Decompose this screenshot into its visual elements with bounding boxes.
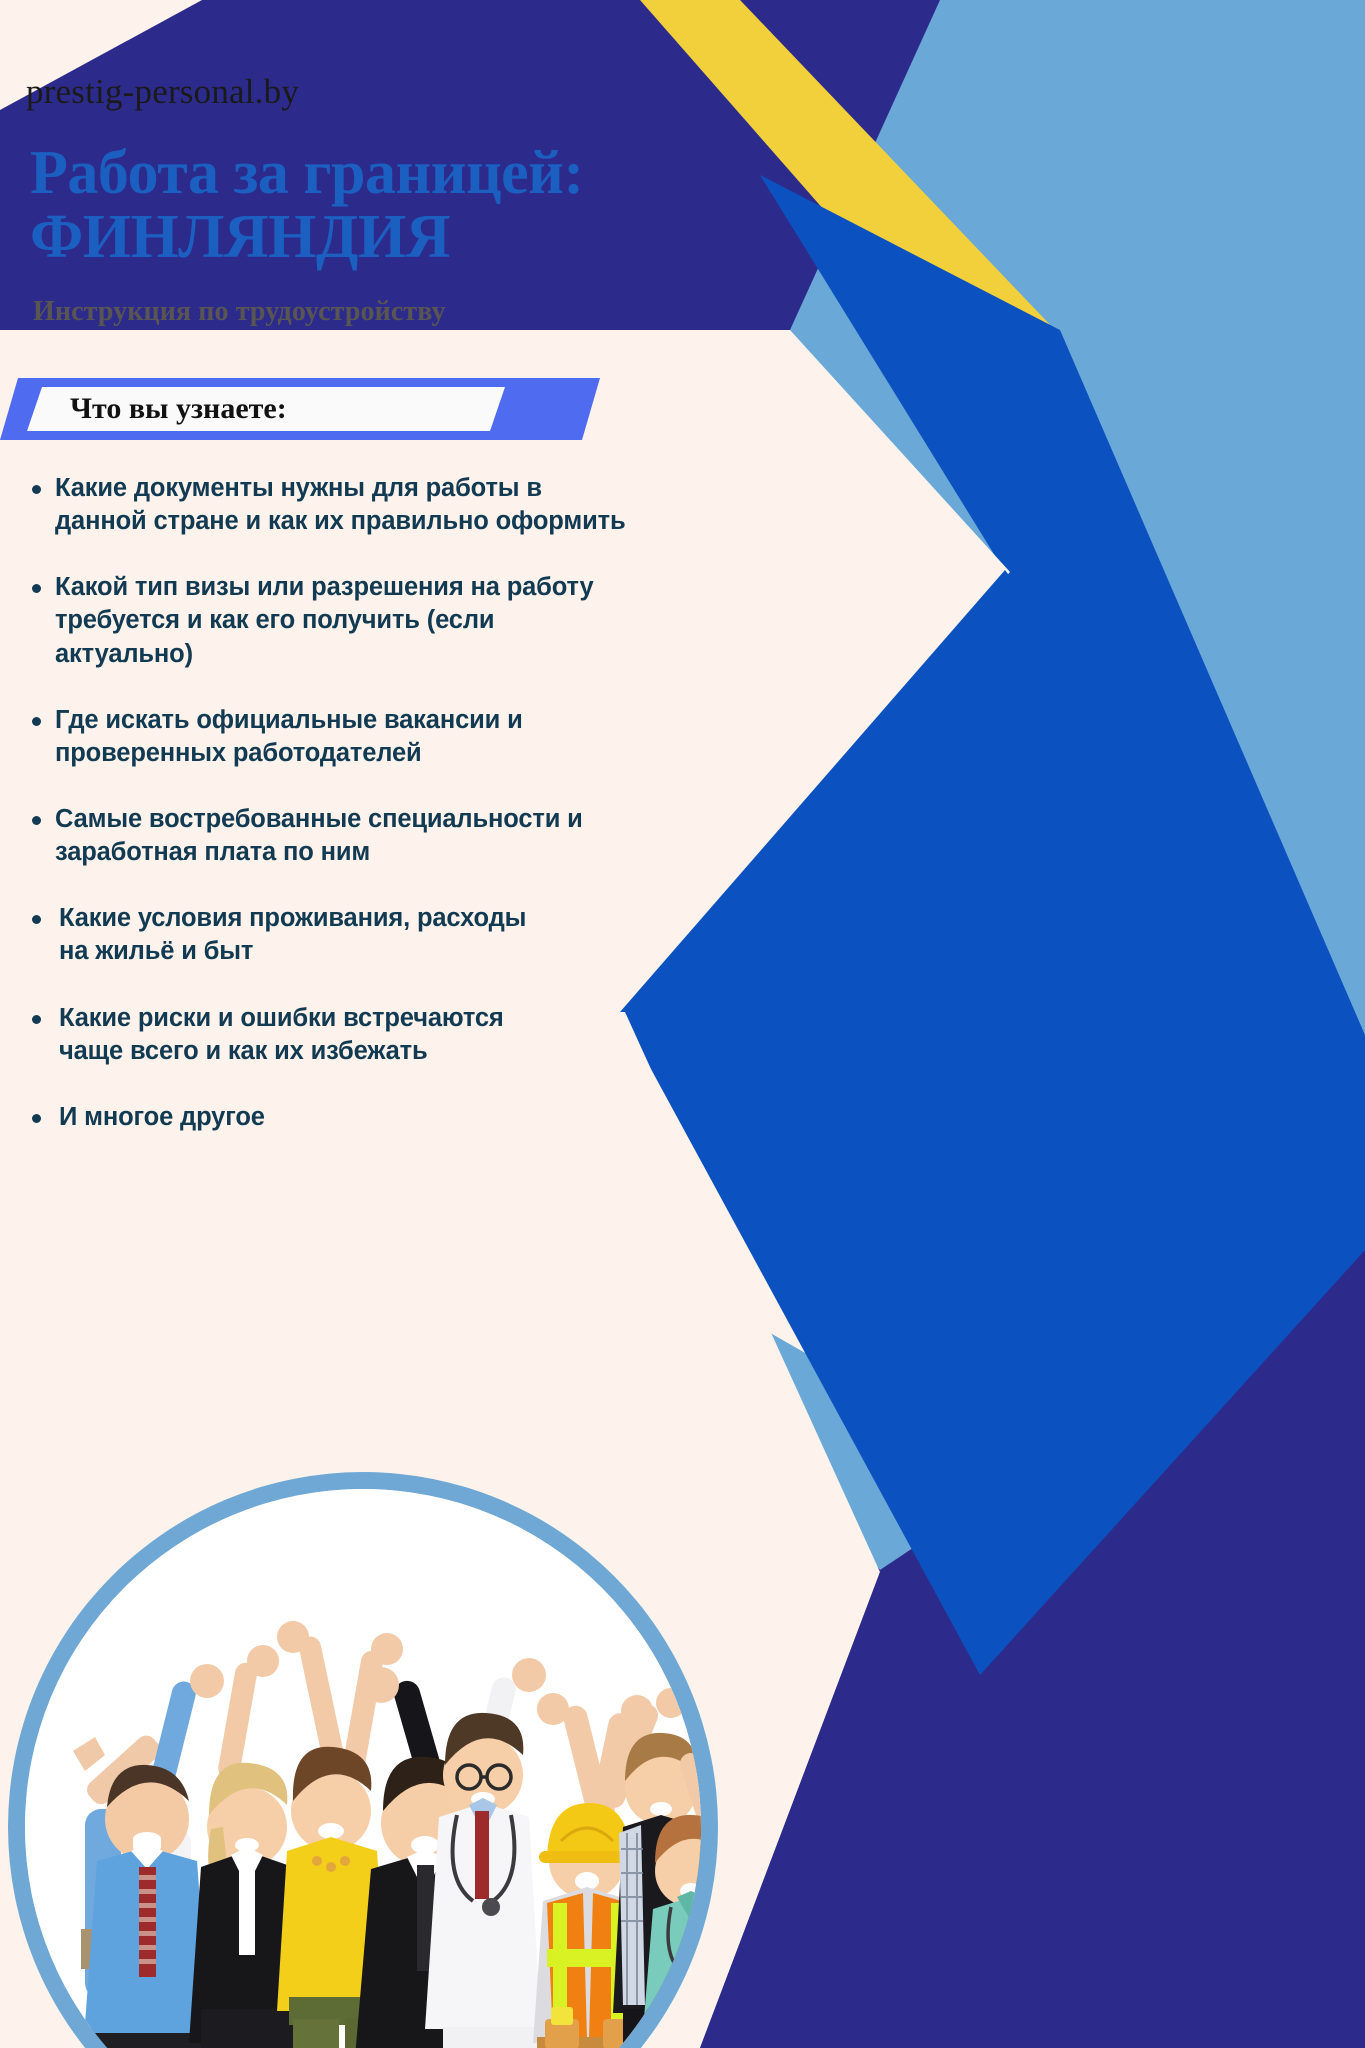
bullet-dot-icon <box>32 717 41 726</box>
list-item: Какие условия проживания, расходы на жил… <box>26 902 746 968</box>
tape-measure-icon <box>551 2007 573 2025</box>
bullet-dot-icon <box>32 816 41 825</box>
list-item-text: Какие условия проживания, расходы на жил… <box>59 902 526 968</box>
bullet-dot-icon <box>32 485 41 494</box>
bullet-dot-icon <box>32 1015 41 1024</box>
list-item-text: Какие документы нужны для работы в данно… <box>55 472 625 538</box>
list-item: Самые востребованные специальности и зар… <box>26 803 746 869</box>
section-banner-label: Что вы узнаете: <box>70 392 287 426</box>
bullet-dot-icon <box>32 584 41 593</box>
list-item-text: И многое другое <box>59 1101 265 1134</box>
list-item-text: Какой тип визы или разрешения на работу … <box>55 571 594 670</box>
page-title-line2: ФИНЛЯНДИЯ <box>30 206 790 270</box>
page-title: Работа за границей: ФИНЛЯНДИЯ <box>30 142 790 270</box>
site-brand: prestig-personal.by <box>26 72 299 112</box>
list-item-text: Какие риски и ошибки встречаются чаще вс… <box>59 1002 504 1068</box>
list-item: Где искать официальные вакансии и провер… <box>26 704 746 770</box>
team-photo <box>8 1472 718 2048</box>
list-item-text: Самые востребованные специальности и зар… <box>55 803 583 869</box>
page-title-line1: Работа за границей: <box>30 139 584 207</box>
benefits-list: Какие документы нужны для работы в данно… <box>26 472 746 1167</box>
page-subtitle: Инструкция по трудоустройству <box>33 296 446 328</box>
bullet-dot-icon <box>32 1114 41 1123</box>
list-item: Какой тип визы или разрешения на работу … <box>26 571 746 670</box>
list-item: И многое другое <box>26 1101 746 1134</box>
list-item: Какие риски и ошибки встречаются чаще вс… <box>26 1002 746 1068</box>
list-item: Какие документы нужны для работы в данно… <box>26 472 746 538</box>
poster-root: prestig-personal.by Работа за границей: … <box>0 0 1365 2048</box>
bullet-dot-icon <box>32 915 41 924</box>
list-item-text: Где искать официальные вакансии и провер… <box>55 704 523 770</box>
